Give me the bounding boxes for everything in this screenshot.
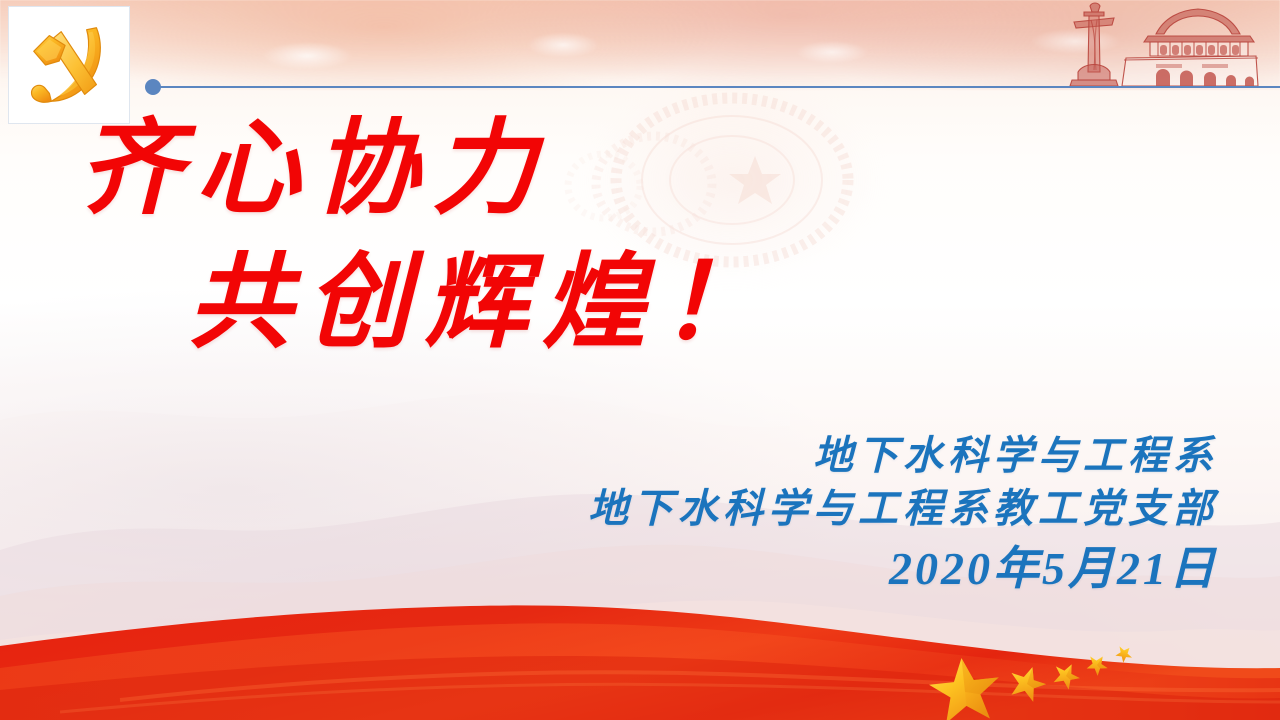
slide-headline: 齐心协力 共创辉煌！ (0, 118, 860, 356)
headline-line-2: 共创辉煌！ (188, 252, 860, 356)
party-emblem-box (8, 6, 130, 124)
huabiao-column-icon (1070, 3, 1118, 86)
tiananmen-gate-icon (1060, 0, 1280, 90)
header-divider-dot (145, 79, 161, 95)
header-divider-line (152, 86, 1280, 88)
credit-date: 2020年5月21日 (588, 540, 1218, 599)
slide-credits: 地下水科学与工程系 地下水科学与工程系教工党支部 2020年5月21日 (588, 430, 1218, 598)
credit-party-branch: 地下水科学与工程系教工党支部 (588, 483, 1218, 536)
credit-department: 地下水科学与工程系 (588, 430, 1218, 483)
presentation-slide: 齐心协力 共创辉煌！ 地下水科学与工程系 地下水科学与工程系教工党支部 2020… (0, 0, 1280, 720)
hammer-and-sickle-icon (20, 16, 118, 114)
headline-line-1: 齐心协力 (78, 118, 860, 222)
